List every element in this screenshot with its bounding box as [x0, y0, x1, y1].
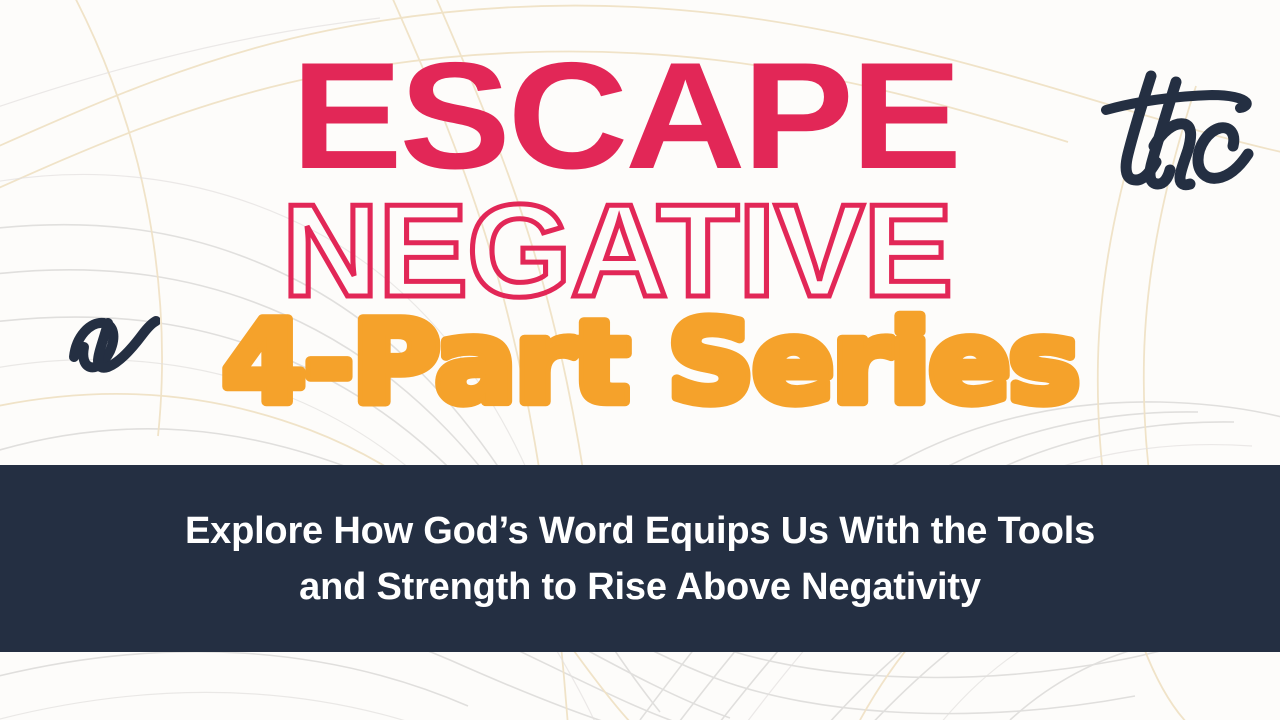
headline-negative-text: NEGATIVE — [282, 190, 952, 312]
headline-escape: ESCAPE — [155, 52, 1095, 192]
headline-block: ESCAPE NEGATIVE — [0, 0, 1280, 465]
headline-series-text: 4-Part Series — [222, 305, 1078, 417]
headline-escape-text: ESCAPE — [291, 52, 959, 192]
subtitle-line-2: and Strength to Rise Above Negativity — [299, 559, 981, 615]
script-word-the — [1088, 62, 1263, 197]
subtitle-banner: Explore How God’s Word Equips Us With th… — [0, 465, 1280, 652]
headline-series: 4-Part Series — [112, 305, 1188, 417]
poster-canvas: ESCAPE NEGATIVE — [0, 0, 1280, 720]
headline-negative: NEGATIVE — [28, 190, 1206, 312]
subtitle-line-1: Explore How God’s Word Equips Us With th… — [185, 503, 1095, 559]
